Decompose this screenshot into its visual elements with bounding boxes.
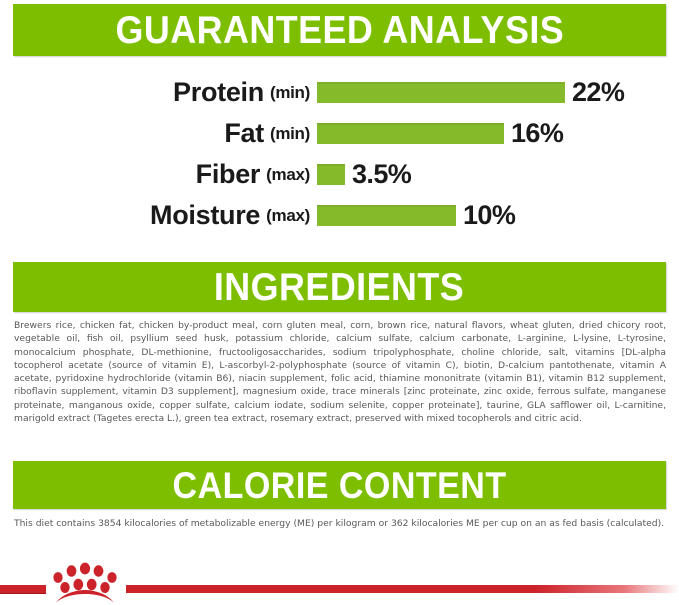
- nutrient-name: Moisture: [150, 200, 260, 231]
- nutrient-label-moisture: Moisture (max): [150, 195, 310, 236]
- nutrient-bar-row-fat: 16%: [317, 113, 563, 154]
- nutrient-value: 22%: [572, 77, 624, 108]
- nutrition-label-page: GUARANTEED ANALYSIS Protein (min) 22% Fa…: [0, 0, 679, 605]
- guaranteed-analysis-title: GUARANTEED ANALYSIS: [115, 11, 564, 50]
- footer: [0, 560, 679, 605]
- nutrient-label-protein: Protein (min): [173, 72, 310, 113]
- nutrient-qualifier: (max): [266, 165, 310, 185]
- calorie-content-banner: CALORIE CONTENT: [13, 461, 666, 509]
- table-row: Fat (min) 16%: [0, 113, 679, 154]
- nutrient-name: Fiber: [196, 159, 261, 190]
- guaranteed-analysis-banner: GUARANTEED ANALYSIS: [13, 4, 666, 56]
- nutrient-bar: [317, 82, 565, 103]
- guaranteed-analysis-table: Protein (min) 22% Fat (min) 16% Fiber (m…: [0, 72, 679, 236]
- nutrient-qualifier: (min): [270, 83, 310, 103]
- calorie-content-title: CALORIE CONTENT: [172, 467, 506, 504]
- nutrient-bar-row-protein: 22%: [317, 72, 624, 113]
- ingredients-text: Brewers rice, chicken fat, chicken by-pr…: [14, 319, 666, 425]
- table-row: Moisture (max) 10%: [0, 195, 679, 236]
- nutrient-value: 10%: [463, 200, 515, 231]
- table-row: Fiber (max) 3.5%: [0, 154, 679, 195]
- table-row: Protein (min) 22%: [0, 72, 679, 113]
- nutrient-name: Fat: [224, 118, 264, 149]
- ingredients-banner: INGREDIENTS: [13, 262, 666, 312]
- nutrient-value: 3.5%: [352, 159, 411, 190]
- nutrient-qualifier: (min): [270, 124, 310, 144]
- nutrient-value: 16%: [511, 118, 563, 149]
- ingredients-title: INGREDIENTS: [214, 268, 464, 307]
- nutrient-label-fat: Fat (min): [224, 113, 310, 154]
- footer-rule-left: [0, 585, 46, 594]
- nutrient-bar-row-moisture: 10%: [317, 195, 515, 236]
- calorie-content-text: This diet contains 3854 kilocalories of …: [14, 517, 666, 531]
- nutrient-qualifier: (max): [266, 206, 310, 226]
- footer-rule-right: [126, 585, 679, 593]
- nutrient-name: Protein: [173, 77, 264, 108]
- crown-paw-icon: [48, 561, 122, 603]
- nutrient-bar-row-fiber: 3.5%: [317, 154, 411, 195]
- nutrient-bar: [317, 164, 345, 185]
- nutrient-bar: [317, 205, 456, 226]
- nutrient-bar: [317, 123, 504, 144]
- nutrient-label-fiber: Fiber (max): [196, 154, 310, 195]
